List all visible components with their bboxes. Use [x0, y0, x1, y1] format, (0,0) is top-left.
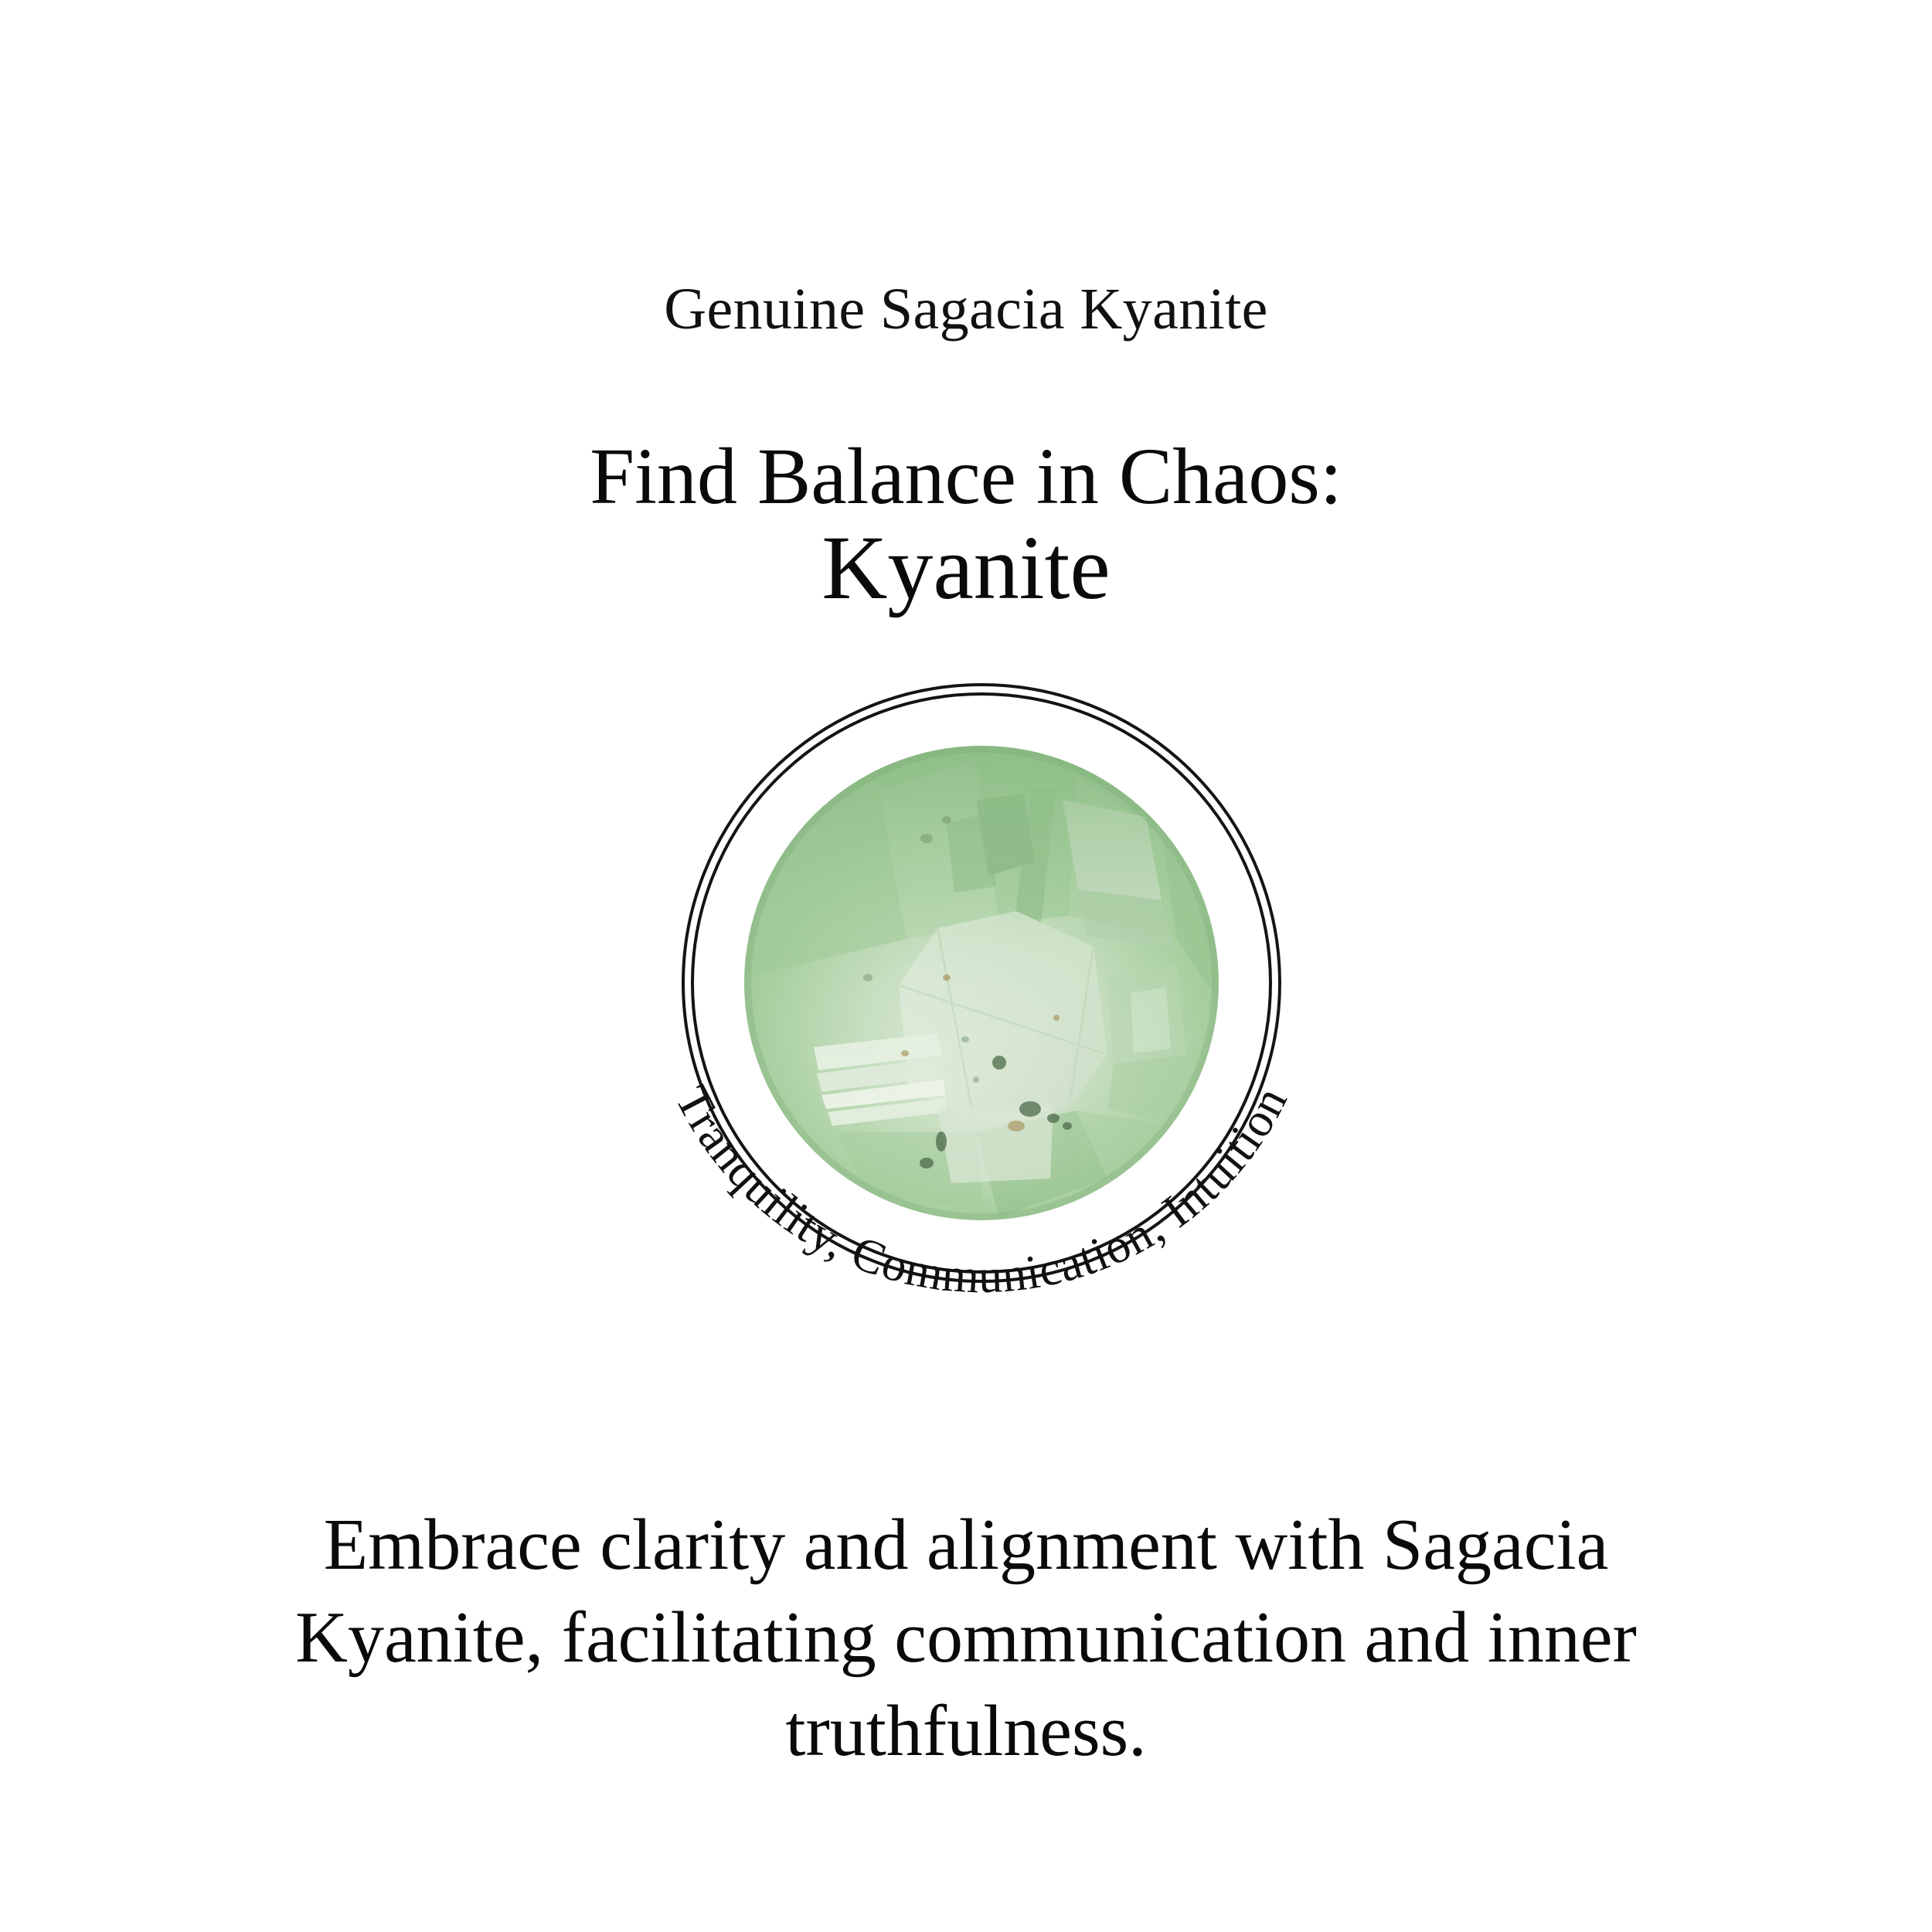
- eyebrow-label: Genuine Sagacia Kyanite: [0, 280, 1932, 338]
- gem-badge-stage: Tranquility, Communication, Intuition: [618, 620, 1345, 1346]
- page-title: Find Balance in Chaos: Kyanite: [0, 434, 1932, 617]
- kyanite-gemstone-image: [744, 746, 1219, 1220]
- page-title-line-2: Kyanite: [0, 519, 1932, 617]
- page-title-line-1: Find Balance in Chaos:: [0, 434, 1932, 519]
- product-card: Genuine Sagacia Kyanite Find Balance in …: [0, 0, 1932, 1932]
- description-paragraph: Embrace clarity and alignment with Sagac…: [193, 1498, 1739, 1777]
